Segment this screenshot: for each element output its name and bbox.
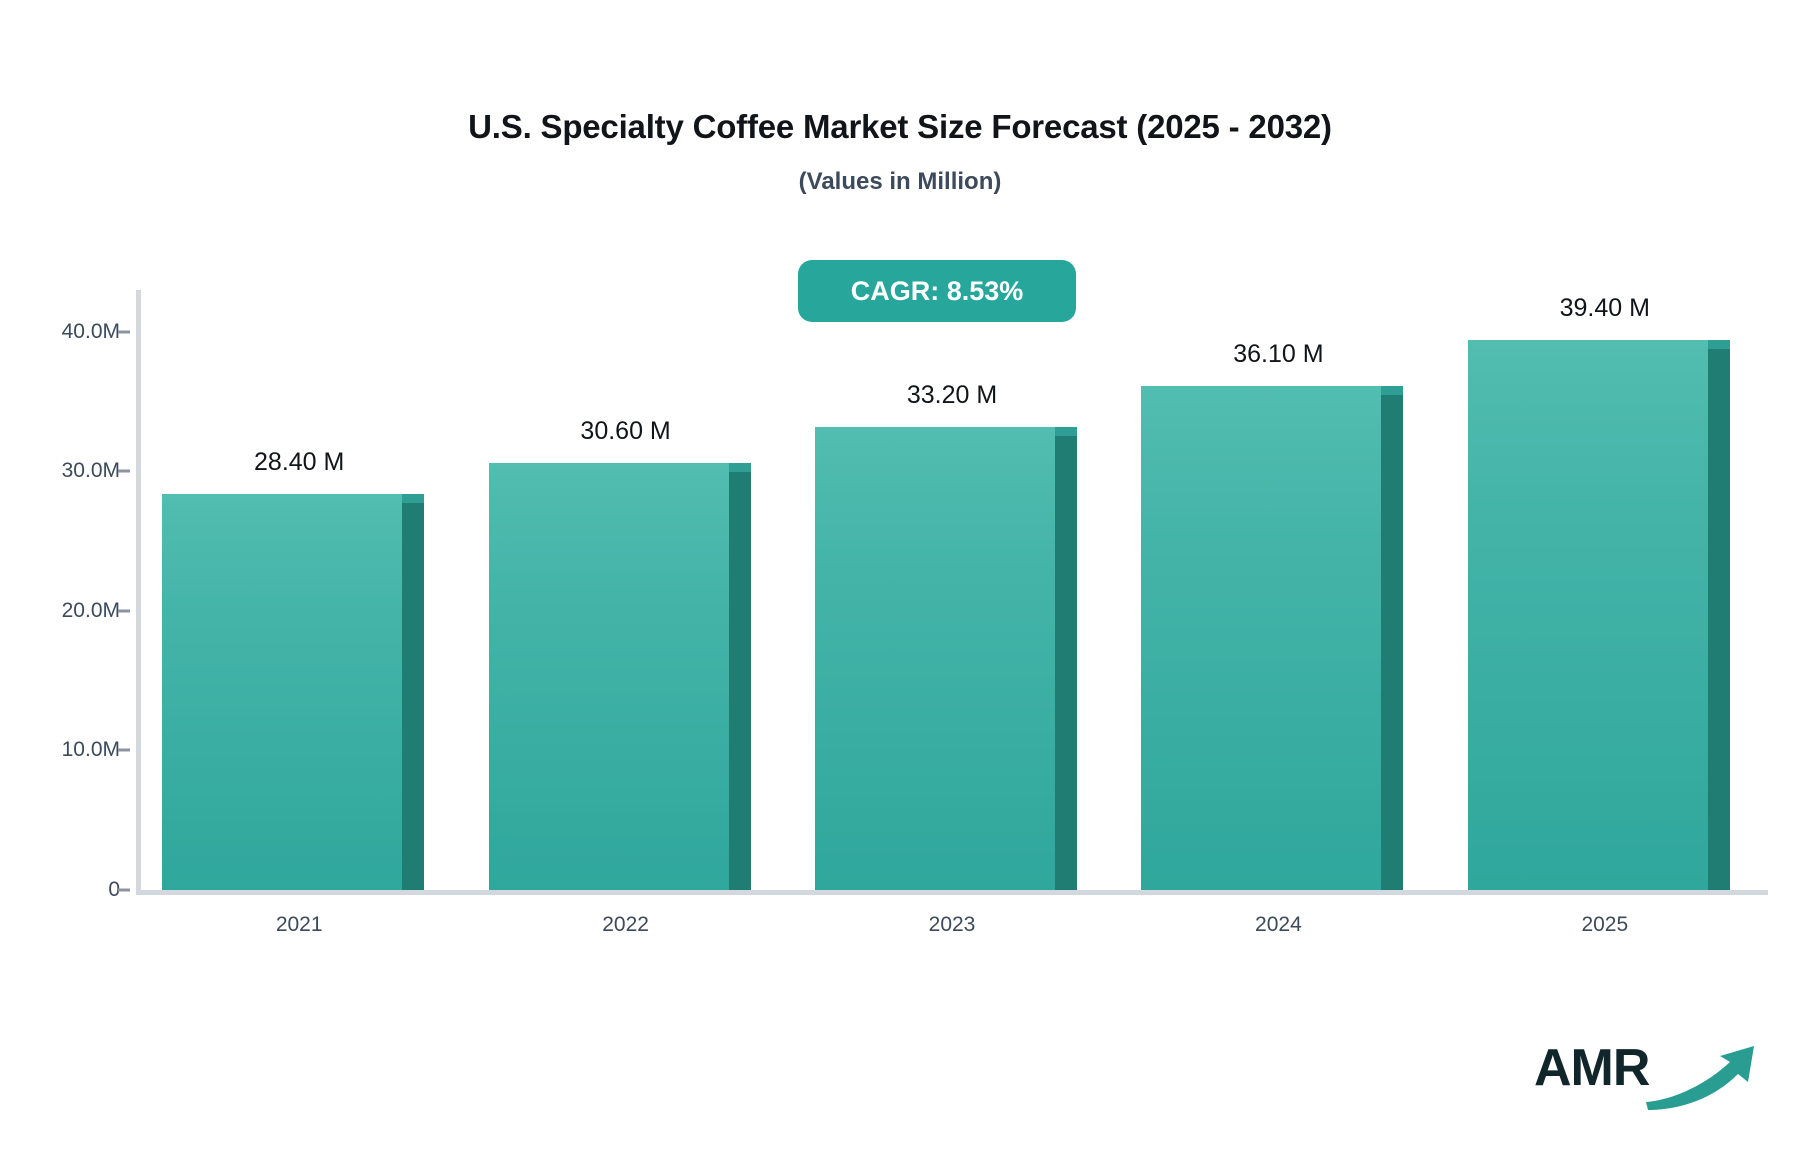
chart-title: U.S. Specialty Coffee Market Size Foreca… [0, 108, 1800, 146]
cagr-badge-label: CAGR: 8.53% [851, 276, 1024, 307]
y-axis-tick-mark [118, 330, 130, 333]
bar-side-face [1708, 349, 1730, 890]
x-axis-line [136, 890, 1768, 895]
bar-value-label: 39.40 M [1445, 294, 1765, 323]
trend-up-arrow-icon [1642, 1042, 1762, 1112]
x-axis-tick-label: 2021 [139, 913, 459, 937]
bar-value-label: 33.20 M [792, 381, 1112, 410]
bar [1141, 386, 1403, 890]
bar-front-face [162, 494, 402, 890]
bar-front-face [1141, 386, 1381, 890]
y-axis-tick-label: 10.0M [10, 738, 120, 762]
chart-canvas: U.S. Specialty Coffee Market Size Foreca… [0, 0, 1800, 1156]
amr-logo-text: AMR [1534, 1038, 1649, 1098]
bar-side-face [402, 503, 424, 890]
bar [1468, 340, 1730, 890]
y-axis-tick-mark [118, 470, 130, 473]
y-axis-line [136, 290, 141, 895]
cagr-badge: CAGR: 8.53% [798, 260, 1076, 322]
bar-front-face [815, 427, 1055, 890]
x-axis-tick-label: 2024 [1118, 913, 1438, 937]
x-axis-tick-label: 2023 [792, 913, 1112, 937]
bar-front-face [489, 463, 729, 890]
x-axis-tick-label: 2022 [466, 913, 786, 937]
chart-subtitle: (Values in Million) [0, 168, 1800, 196]
y-axis-tick-mark [118, 609, 130, 612]
y-axis-tick-mark [118, 749, 130, 752]
bar [162, 494, 424, 890]
bar [489, 463, 751, 890]
bar-top-face [729, 463, 751, 472]
bar-value-label: 36.10 M [1118, 340, 1438, 369]
y-axis-tick-label: 20.0M [10, 599, 120, 623]
bar-top-face [1381, 386, 1403, 395]
bar-value-label: 30.60 M [466, 417, 786, 446]
y-axis-tick-label: 40.0M [10, 320, 120, 344]
bar [815, 427, 1077, 890]
y-axis-tick-label: 30.0M [10, 459, 120, 483]
bar-value-label: 28.40 M [139, 448, 459, 477]
y-axis-tick-label: 0 [10, 878, 120, 902]
bar-top-face [1055, 427, 1077, 436]
bar-top-face [1708, 340, 1730, 349]
x-axis-tick-label: 2025 [1445, 913, 1765, 937]
bar-side-face [729, 472, 751, 890]
bar-front-face [1468, 340, 1708, 890]
y-axis-tick-mark [118, 889, 130, 892]
bar-side-face [1055, 436, 1077, 890]
bar-side-face [1381, 395, 1403, 890]
bar-top-face [402, 494, 424, 503]
amr-logo: AMR [1534, 1034, 1764, 1120]
